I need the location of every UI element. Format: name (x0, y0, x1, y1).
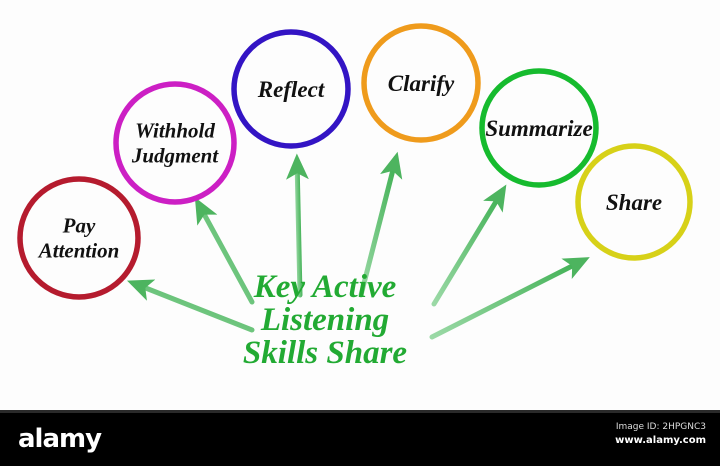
watermark-divider (0, 410, 720, 413)
watermark-meta: Image ID: 2HPGNC3 www.alamy.com (615, 421, 706, 447)
label-withhold-judgment: WithholdJudgment (131, 119, 220, 168)
active-listening-diagram: PayAttentionWithholdJudgmentReflectClari… (0, 0, 720, 410)
label-reflect: Reflect (257, 77, 325, 102)
watermark-bar (0, 410, 720, 466)
diagram-canvas: PayAttentionWithholdJudgmentReflectClari… (0, 0, 720, 410)
label-clarify: Clarify (388, 71, 455, 96)
label-share: Share (606, 190, 662, 215)
center-title-text: Key ActiveListeningSkills Share (243, 269, 407, 371)
label-pay-attention: PayAttention (37, 214, 120, 263)
label-summarize: Summarize (485, 116, 592, 141)
center-title: Key ActiveListeningSkills Share (243, 269, 407, 371)
alamy-url[interactable]: www.alamy.com (615, 434, 706, 447)
alamy-logo: alamy (18, 424, 101, 454)
arrow-to-summarize (434, 190, 503, 304)
image-id-text: Image ID: 2HPGNC3 (615, 421, 706, 434)
circles-group (20, 26, 690, 297)
arrow-to-pay-attention (133, 283, 252, 330)
arrow-to-withhold-judgment (198, 203, 252, 302)
